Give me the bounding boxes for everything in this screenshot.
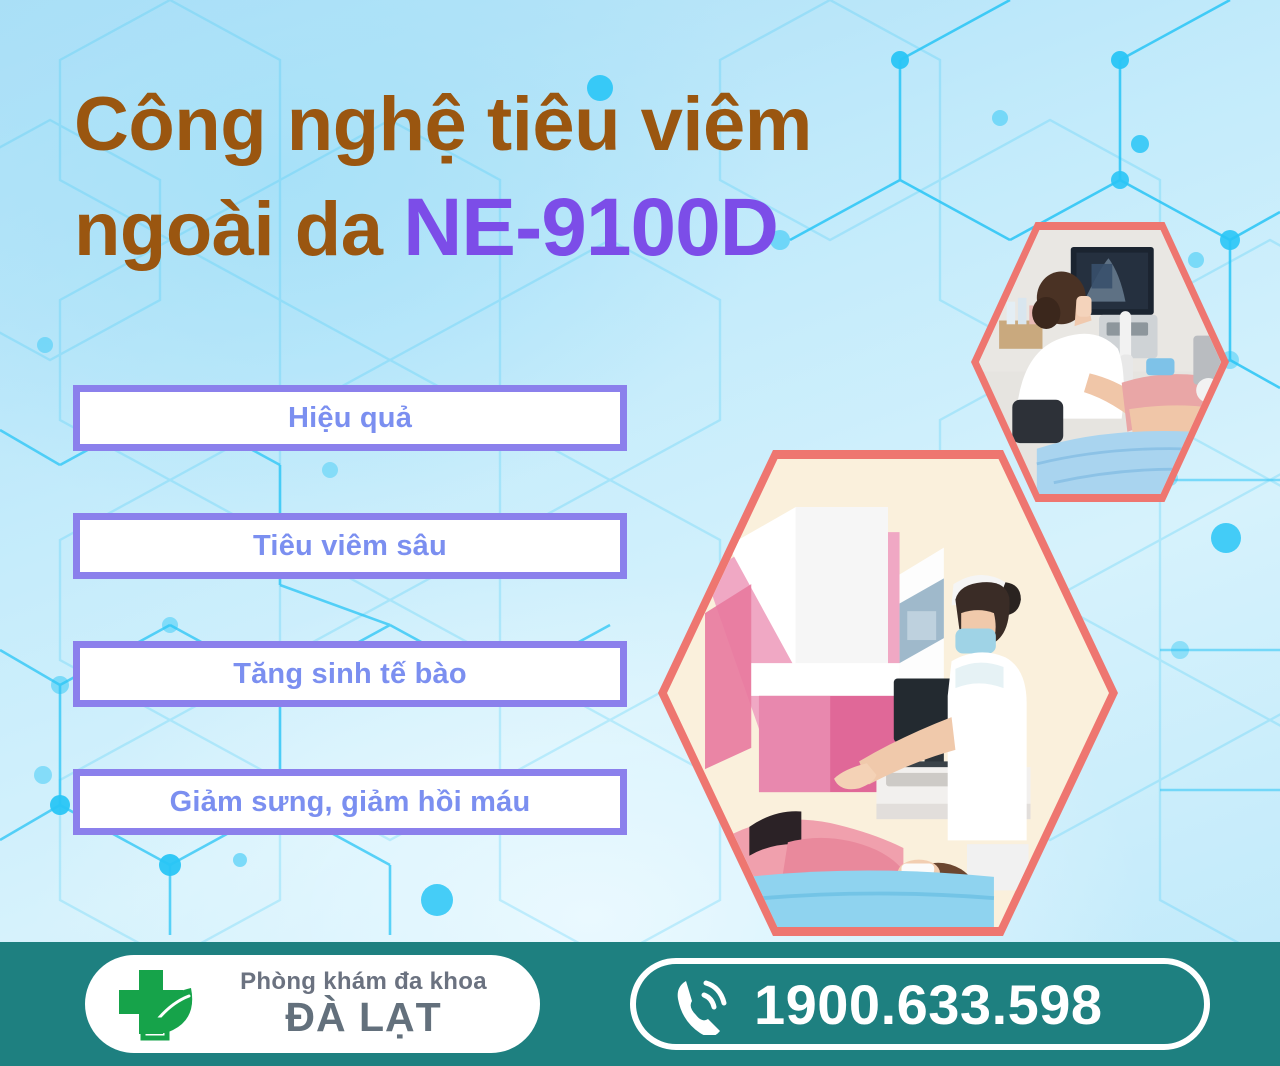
feature-box-3[interactable]: Tăng sinh tế bào — [73, 641, 627, 707]
medical-cross-leaf-icon — [107, 966, 199, 1042]
page-title: Công nghệ tiêu viêm ngoài da NE-9100D — [74, 86, 1034, 269]
feature-box-2[interactable]: Tiêu viêm sâu — [73, 513, 627, 579]
headline-line-2-prefix: ngoài da — [74, 187, 403, 272]
product-model-name: NE-9100D — [403, 182, 778, 273]
footer-bar: Phòng khám đa khoa ĐÀ LẠT 1900.633.598 — [0, 942, 1280, 1066]
feature-label: Tiêu viêm sâu — [253, 530, 447, 563]
hexagon-photo-inner — [979, 230, 1221, 494]
headline-line-1: Công nghệ tiêu viêm — [74, 86, 1034, 164]
feature-label: Tăng sinh tế bào — [233, 658, 467, 691]
feature-list: Hiệu quả Tiêu viêm sâu Tăng sinh tế bào … — [73, 385, 627, 897]
feature-label: Giảm sưng, giảm hồi máu — [170, 786, 531, 819]
hotline-number: 1900.633.598 — [754, 972, 1103, 1037]
ringing-phone-icon — [670, 973, 732, 1035]
promo-banner: Công nghệ tiêu viêm ngoài da NE-9100D Hi… — [0, 0, 1280, 1066]
feature-box-4[interactable]: Giảm sưng, giảm hồi máu — [73, 769, 627, 835]
clinic-tagline: Phòng khám đa khoa — [240, 969, 487, 994]
clinic-logo-text: Phòng khám đa khoa ĐÀ LẠT — [205, 969, 540, 1038]
headline-line-2: ngoài da NE-9100D — [74, 186, 1034, 270]
clinic-name: ĐÀ LẠT — [285, 996, 441, 1039]
clinic-logo[interactable]: Phòng khám đa khoa ĐÀ LẠT — [85, 955, 540, 1053]
feature-label: Hiệu quả — [288, 402, 412, 435]
hotline-button[interactable]: 1900.633.598 — [630, 958, 1210, 1050]
feature-box-1[interactable]: Hiệu quả — [73, 385, 627, 451]
